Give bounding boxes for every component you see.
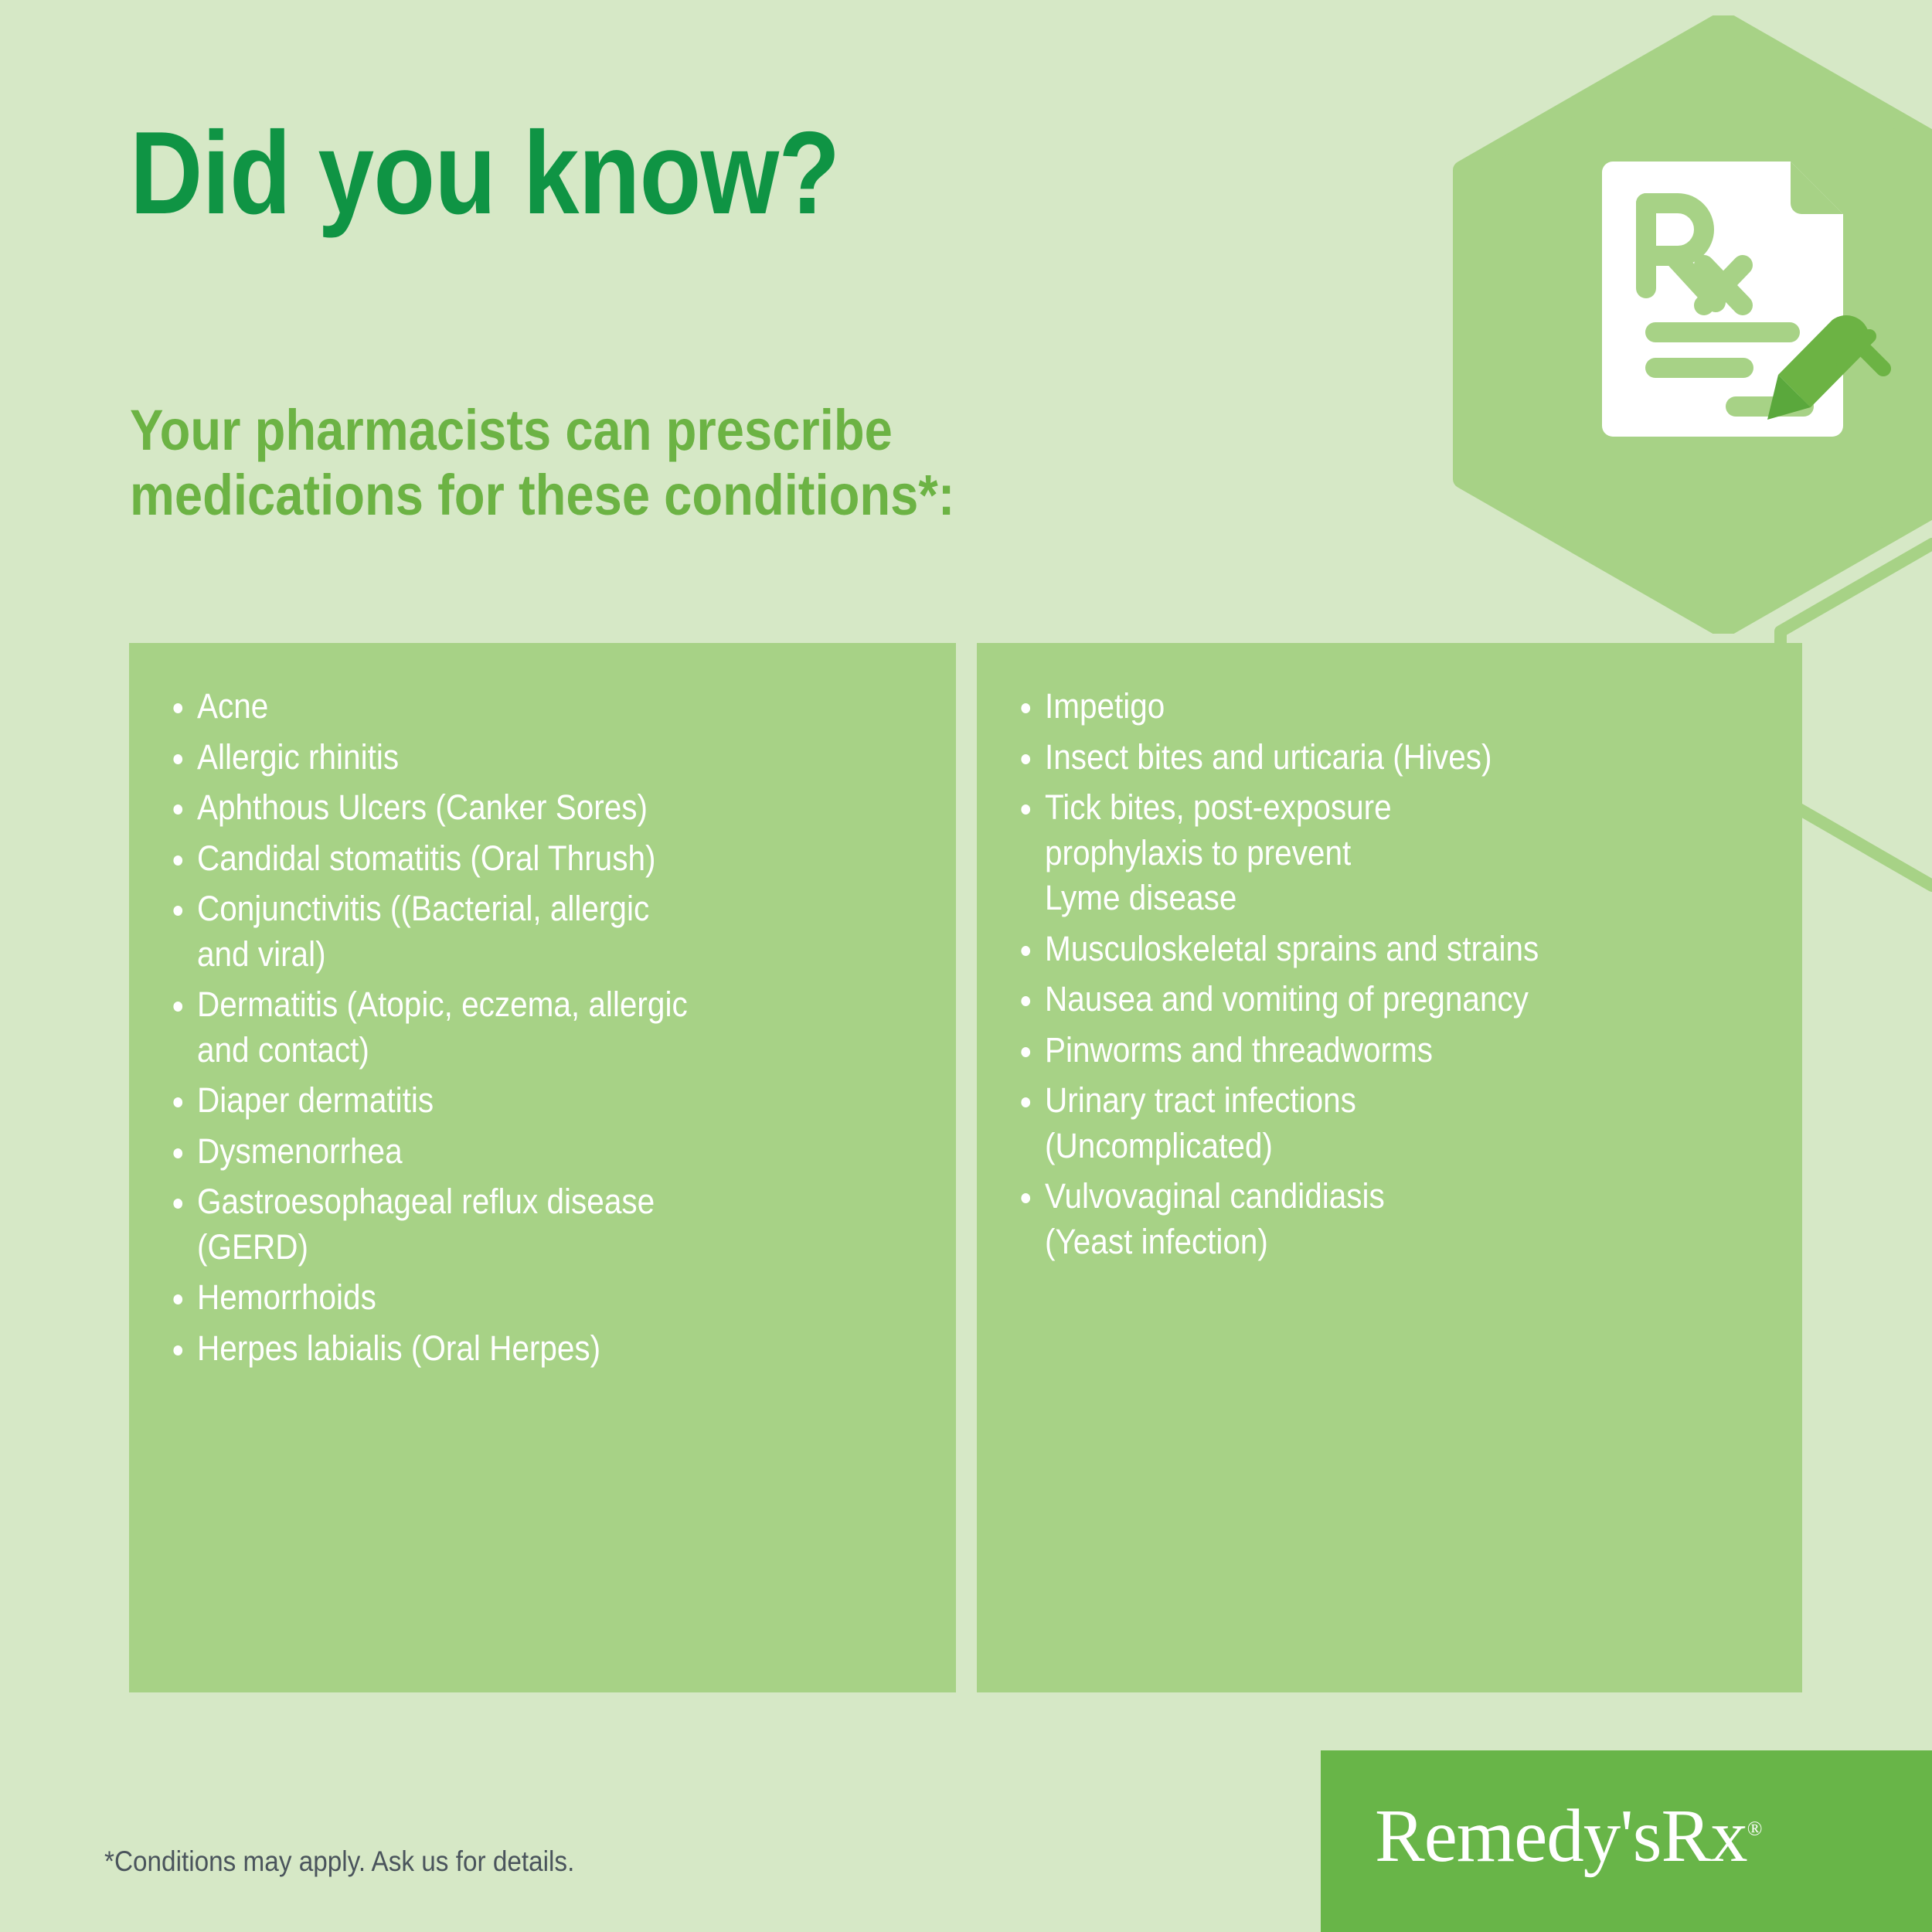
conditions-panel-right: ImpetigoInsect bites and urticaria (Hive… [977, 643, 1802, 1692]
condition-list-item: Nausea and vomiting of pregnancy [1017, 977, 1702, 1022]
infographic-poster: Did you know? Your pharmacists can presc… [0, 0, 1932, 1932]
subtitle: Your pharmacists can prescribe medicatio… [130, 398, 954, 529]
condition-list-item: Urinary tract infections (Uncomplicated) [1017, 1078, 1702, 1168]
condition-list-item: Hemorrhoids [169, 1275, 856, 1321]
condition-list-item: Aphthous Ulcers (Canker Sores) [169, 785, 856, 831]
condition-list-item: Dermatitis (Atopic, eczema, allergic and… [169, 982, 856, 1073]
conditions-list-right: ImpetigoInsect bites and urticaria (Hive… [977, 643, 1802, 1264]
footnote-disclaimer: *Conditions may apply. Ask us for detail… [104, 1845, 574, 1878]
condition-list-item: Pinworms and threadworms [1017, 1028, 1702, 1073]
condition-list-item: Musculoskeletal sprains and strains [1017, 927, 1702, 972]
page-title: Did you know? [130, 114, 839, 232]
condition-list-item: Tick bites, post-exposure prophylaxis to… [1017, 785, 1702, 921]
rx-prescription-document-pencil-icon [1588, 151, 1897, 452]
condition-list-item: Acne [169, 684, 856, 730]
logo-text: Remedy'sRx [1375, 1794, 1747, 1877]
condition-list-item: Herpes labialis (Oral Herpes) [169, 1326, 856, 1372]
condition-list-item: Diaper dermatitis [169, 1078, 856, 1124]
condition-list-item: Conjunctivitis ((Bacterial, allergic and… [169, 886, 856, 977]
conditions-panel-left: AcneAllergic rhinitisAphthous Ulcers (Ca… [129, 643, 956, 1692]
remedys-rx-logo: Remedy'sRx® [1321, 1750, 1932, 1932]
subtitle-line-1: Your pharmacists can prescribe [130, 398, 954, 463]
condition-list-item: Allergic rhinitis [169, 735, 856, 781]
condition-list-item: Candidal stomatitis (Oral Thrush) [169, 836, 856, 882]
subtitle-line-2: medications for these conditions*: [130, 463, 954, 528]
condition-list-item: Vulvovaginal candidiasis (Yeast infectio… [1017, 1174, 1702, 1264]
condition-list-item: Dysmenorrhea [169, 1129, 856, 1175]
registered-trademark-icon: ® [1747, 1818, 1762, 1840]
logo-wordmark: Remedy'sRx® [1375, 1798, 1761, 1873]
conditions-list-left: AcneAllergic rhinitisAphthous Ulcers (Ca… [129, 643, 956, 1371]
condition-list-item: Gastroesophageal reflux disease (GERD) [169, 1179, 856, 1270]
condition-list-item: Impetigo [1017, 684, 1702, 730]
condition-list-item: Insect bites and urticaria (Hives) [1017, 735, 1702, 781]
